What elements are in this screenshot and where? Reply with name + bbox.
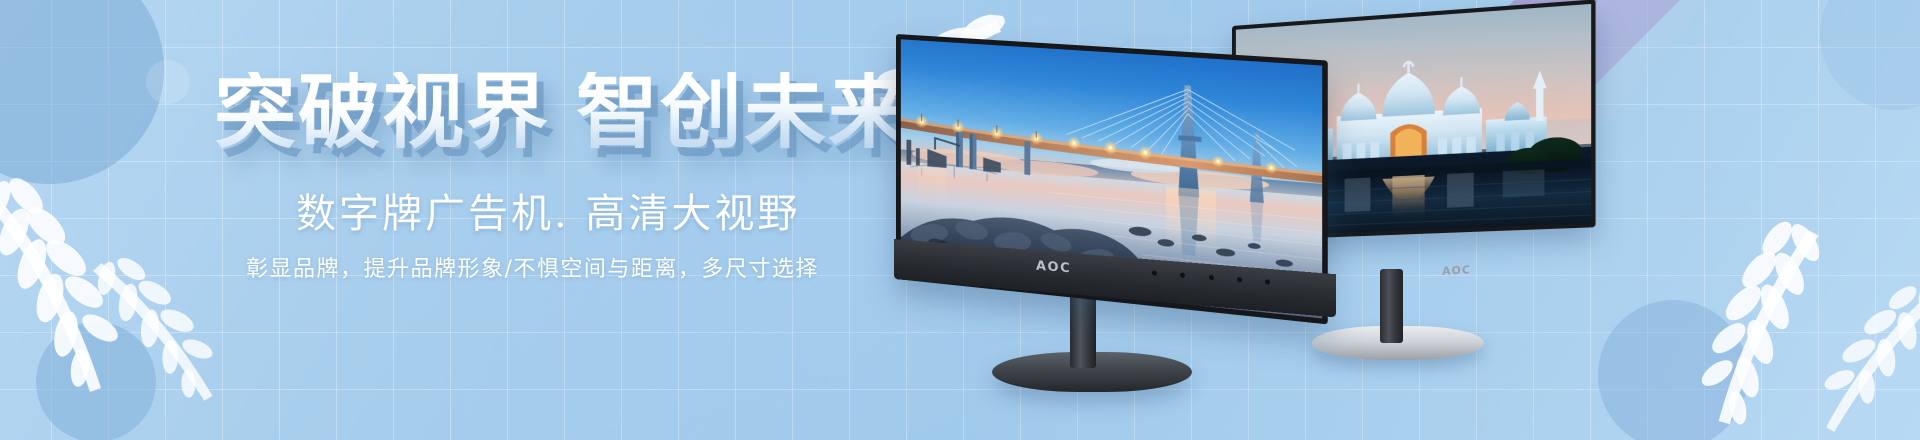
osd-button[interactable] [1209,274,1214,279]
osd-button[interactable] [1152,270,1157,275]
monitor-back-stand-neck [1380,269,1403,343]
aoc-logo-back: AOC [1442,263,1471,278]
promo-banner: 突破视界智创未来 数字牌广告机. 高清大视野 彰显品牌，提升品牌形象/不惧空间与… [0,0,1920,440]
monitor-front[interactable]: AOC [896,34,1366,394]
osd-button[interactable] [1237,277,1242,282]
product-monitors: AOC [0,0,1920,440]
osd-button[interactable] [1180,272,1185,277]
aoc-logo-front: AOC [1036,259,1071,277]
power-button[interactable] [1265,279,1270,284]
